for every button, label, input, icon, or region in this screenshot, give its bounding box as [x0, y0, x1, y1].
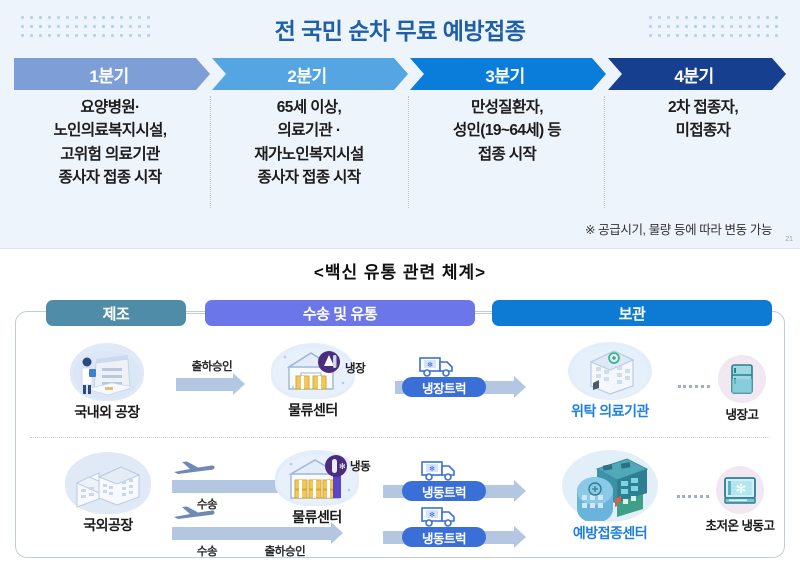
column-divider-2 [408, 96, 409, 208]
flow-header-label: 수송 및 유통 [303, 303, 378, 324]
refrigerated-truck-icon: ✻ [419, 355, 457, 377]
flow-arrow-1 [176, 378, 234, 391]
flow-node-domestic-factory: 국내외 공장 [42, 343, 172, 422]
quarter-arrow-q3: 3분기 [410, 58, 606, 90]
flow-node-vaccination-center: 예방접종센터 [540, 450, 680, 543]
quarter-detail-line: 접종 시작 [411, 143, 603, 166]
factory-worker-icon [70, 343, 144, 401]
flow-node-label: 국내외 공장 [42, 402, 172, 422]
flow-header-label: 제조 [103, 303, 130, 324]
quarter-arrow-q4: 4분기 [608, 58, 786, 90]
section-title: <백신 유통 관련 체계> [0, 258, 800, 283]
quarter-detail-q2: 65세 이상, 의료기관 · 재가노인복지시설 종사자 접종 시작 [213, 96, 405, 214]
flow-node-label: 국외공장 [48, 515, 168, 535]
quarter-detail-line: 종사자 접종 시작 [14, 166, 206, 189]
footnote: ※ 공급시기, 물량 등에 따라 변동 가능 [585, 219, 772, 238]
temperature-tag-refrigerated-1: 냉장 [345, 360, 365, 376]
quarter-detail-line: 고위험 의료기관 [14, 143, 206, 166]
flow-header-label: 보관 [619, 303, 646, 324]
quarter-detail-line: 미접종자 [607, 119, 799, 142]
svg-text:✻: ✻ [736, 481, 747, 496]
svg-text:✻: ✻ [427, 361, 433, 369]
quarter-detail-line: 노인의료복지시설, [14, 119, 206, 142]
quarter-detail-q4: 2차 접종자, 미접종자 [607, 96, 799, 214]
quarter-detail-line: 의료기관 · [213, 119, 405, 142]
overseas-factory-icon [65, 452, 151, 514]
quarter-detail-line: 요양병원· [14, 96, 206, 119]
quarter-label-q3: 3분기 [485, 62, 530, 87]
truck-pill-refrigerated-1: 냉장트럭 [402, 377, 486, 397]
ultra-cold-freezer-icon: ✻ [716, 466, 764, 514]
flow-node-label: 위탁 의료기관 [545, 401, 675, 421]
quarter-detail-line: 재가노인복지시설 [213, 143, 405, 166]
flow-arrow-caption-transport-2: 수송 [177, 543, 237, 559]
quarter-detail-line: 성인(19~64세) 등 [411, 119, 603, 142]
refrigerator-icon [718, 355, 766, 403]
flow-arrow-caption-shipping-approval-2: 출하승인 [245, 543, 325, 559]
airplane-icon [172, 505, 216, 521]
truck-pill-frozen-2: 냉동트럭 [402, 527, 486, 547]
freezer-truck-icon: ✻ [421, 459, 459, 481]
quarter-detail-line: 종사자 접종 시작 [213, 166, 405, 189]
quarter-label-q2: 2분기 [287, 62, 332, 87]
quarter-label-q4: 4분기 [674, 62, 719, 87]
flow-node-refrigerator: 냉장고 [705, 355, 779, 423]
svg-text:✻: ✻ [429, 465, 435, 473]
svg-text:✻: ✻ [429, 511, 435, 519]
quarter-arrow-band: 1분기 2분기 3분기 4분기 [14, 58, 786, 90]
flow-header-manufacturing: 제조 [46, 300, 186, 326]
flow-node-label: 초저온 냉동고 [692, 515, 788, 534]
temperature-tag-frozen-1: 냉동 [350, 458, 370, 474]
flow-node-label: 예방접종센터 [540, 523, 680, 543]
quarter-detail-line: 65세 이상, [213, 96, 405, 119]
flow-arrow-transport-2 [172, 527, 332, 540]
flow-header-storage: 보관 [492, 300, 772, 326]
page-title: 전 국민 순차 무료 예방접종 [0, 12, 800, 46]
quarter-arrow-q1: 1분기 [14, 58, 210, 90]
column-divider-3 [604, 96, 605, 208]
quarter-label-q1: 1분기 [89, 62, 134, 87]
flow-node-logistics-center-cold: 물류센터 [258, 343, 368, 420]
flow-arrow-caption-shipping-approval-1: 출하승인 [177, 358, 247, 374]
airplane-icon [172, 460, 216, 476]
header-connector-1 [186, 313, 206, 314]
quarter-detail-line: 만성질환자, [411, 96, 603, 119]
flow-header-transport: 수송 및 유통 [205, 300, 475, 326]
vaccination-schedule-panel: 전 국민 순차 무료 예방접종 1분기 2분기 3분기 4분기 요양병원· 노인… [0, 0, 800, 249]
freezer-truck-icon: ✻ [421, 505, 459, 527]
warehouse-icon: ✻ [275, 450, 359, 506]
flow-node-overseas-factory: 국외공장 [48, 452, 168, 535]
truck-pill-frozen-1: 냉동트럭 [402, 481, 486, 501]
quarter-arrow-q2: 2분기 [212, 58, 408, 90]
page-number: 21 [785, 236, 793, 243]
flow-row-divider [30, 437, 770, 438]
flow-node-contracted-clinic: 위탁 의료기관 [545, 342, 675, 421]
svg-text:✻: ✻ [339, 462, 346, 471]
flow-node-label: 냉장고 [705, 404, 779, 423]
quarter-detail-line: 2차 접종자, [607, 96, 799, 119]
quarter-detail-q3: 만성질환자, 성인(19~64세) 등 접종 시작 [411, 96, 603, 214]
header-connector-2 [475, 313, 493, 314]
quarter-detail-q1: 요양병원· 노인의료복지시설, 고위험 의료기관 종사자 접종 시작 [14, 96, 206, 214]
column-divider-1 [210, 96, 211, 208]
flow-node-label: 물류센터 [258, 400, 368, 420]
quarter-detail-columns: 요양병원· 노인의료복지시설, 고위험 의료기관 종사자 접종 시작 65세 이… [14, 96, 786, 214]
vaccination-center-icon [562, 450, 658, 522]
flow-node-ultra-cold-freezer: ✻ 초저온 냉동고 [692, 466, 788, 534]
flow-node-label: 물류센터 [262, 507, 372, 527]
clinic-building-icon [568, 342, 652, 400]
warehouse-icon [271, 343, 355, 399]
